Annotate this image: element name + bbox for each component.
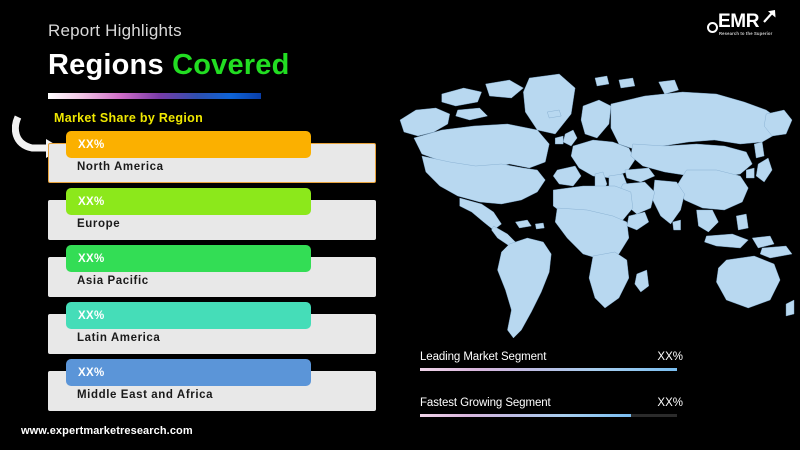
- bar-value-label: XX%: [78, 367, 104, 379]
- world-map-svg: [398, 58, 796, 343]
- bar-fill-middle-east-and-africa[interactable]: XX%: [66, 359, 311, 386]
- bar-fill-north-america[interactable]: XX%: [66, 131, 311, 158]
- bar-value-label: XX%: [78, 139, 104, 151]
- bar-fill-asia-pacific[interactable]: XX%: [66, 245, 311, 272]
- world-map: [398, 58, 796, 343]
- bar-fill-latin-america[interactable]: XX%: [66, 302, 311, 329]
- emr-logo[interactable]: EMR Research to the Superior: [706, 8, 786, 42]
- segment-track: [420, 414, 677, 417]
- page-title-accent: Covered: [172, 49, 289, 81]
- table-row[interactable]: XX% North America: [48, 131, 378, 183]
- eyebrow-text: Report Highlights: [48, 20, 290, 42]
- segment-fill: [420, 368, 677, 371]
- page-title-primary: Regions: [48, 49, 164, 81]
- circle-icon: [707, 22, 718, 33]
- bar-category-label: Asia Pacific: [77, 275, 149, 287]
- bar-value-label: XX%: [78, 196, 104, 208]
- segment-label: Fastest Growing Segment: [420, 397, 551, 409]
- segment-value: XX%: [657, 351, 683, 363]
- footer-url[interactable]: www.expertmarketresearch.com: [21, 425, 193, 437]
- bar-value-label: XX%: [78, 310, 104, 322]
- table-row[interactable]: XX% Middle East and Africa: [48, 359, 378, 411]
- segment-value: XX%: [657, 397, 683, 409]
- bar-category-label: Latin America: [77, 332, 160, 344]
- segment-fill: [420, 414, 631, 417]
- bar-value-label: XX%: [78, 253, 104, 265]
- title-gradient-rule: [48, 93, 261, 99]
- bar-fill-europe[interactable]: XX%: [66, 188, 311, 215]
- table-row[interactable]: XX% Latin America: [48, 302, 378, 354]
- segment-label: Leading Market Segment: [420, 351, 546, 363]
- logo-wordmark: EMR: [718, 12, 759, 31]
- up-right-arrow-icon: [760, 8, 778, 26]
- segment-track: [420, 368, 677, 371]
- bar-category-label: Middle East and Africa: [77, 389, 213, 401]
- table-row[interactable]: XX% Europe: [48, 188, 378, 240]
- page-title: Regions Covered: [48, 48, 290, 82]
- bar-category-label: North America: [77, 161, 164, 173]
- page-header: Report Highlights Regions Covered: [48, 20, 290, 82]
- table-row[interactable]: XX% Asia Pacific: [48, 245, 378, 297]
- bar-category-label: Europe: [77, 218, 120, 230]
- logo-tagline: Research to the Superior: [719, 31, 772, 36]
- market-share-bar-chart: XX% North America XX% Europe XX% Asia Pa…: [48, 131, 378, 416]
- chart-section-label: Market Share by Region: [54, 111, 203, 125]
